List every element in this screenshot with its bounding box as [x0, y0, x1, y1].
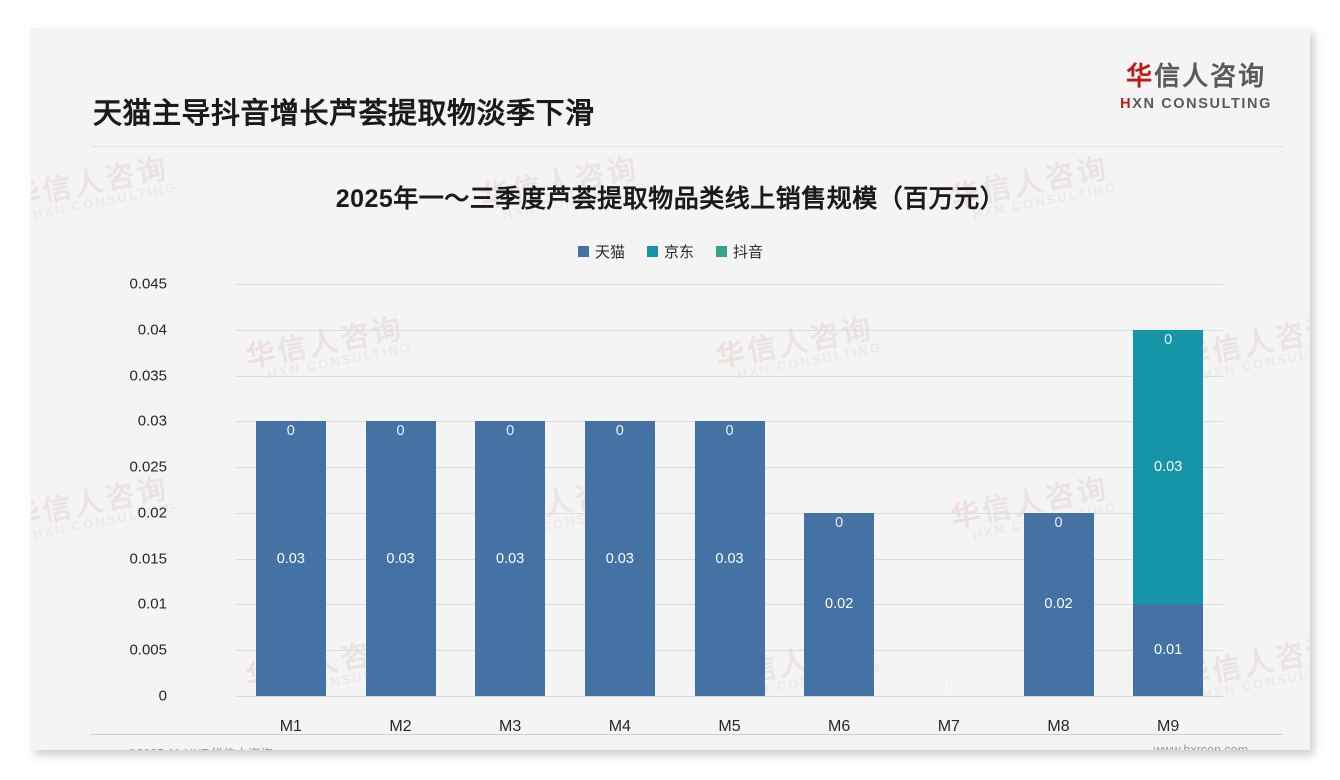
chart-legend: 天猫京东抖音	[31, 241, 1310, 262]
bar-top-zero-label: 0	[1024, 515, 1094, 531]
bar-value-label: 0.03	[256, 551, 326, 567]
legend-label: 天猫	[595, 241, 625, 262]
y-tick-label: 0.01	[138, 596, 167, 613]
bar-segment-天猫[interactable]: 0.03	[695, 421, 765, 696]
bar-segment-天猫[interactable]: 0.03	[366, 421, 436, 696]
bar-value-label: 0.01	[1133, 642, 1203, 658]
bar-value-label: 0.03	[1133, 459, 1203, 475]
company-logo: 华信人咨询 HXN CONSULTING	[1120, 56, 1272, 112]
footer-copyright: ©2025.11 HXR华信人咨询	[127, 743, 273, 750]
legend-item-1[interactable]: 天猫	[578, 241, 625, 262]
y-tick-label: 0.005	[129, 642, 167, 659]
bar-top-zero-label: 0	[585, 423, 655, 439]
y-tick-label: 0.02	[138, 504, 167, 521]
bar-value-label: 0.03	[695, 551, 765, 567]
y-tick-label: 0.03	[138, 413, 167, 430]
bar-top-zero-label: 0	[1133, 332, 1203, 348]
bars-layer: 0.0300.0300.0300.0300.0300.02000.0200.01…	[31, 268, 1310, 708]
bar-top-zero-label: 0	[475, 423, 545, 439]
logo-accent-char: 华	[1126, 61, 1154, 91]
bar-group-M4[interactable]: 0.030	[585, 421, 655, 696]
legend-label: 抖音	[733, 241, 763, 262]
bar-group-M6[interactable]: 0.020	[804, 513, 874, 696]
legend-label: 京东	[664, 241, 694, 262]
chart-title: 2025年一～三季度芦荟提取物品类线上销售规模（百万元）	[31, 179, 1310, 215]
bar-group-M8[interactable]: 0.020	[1024, 513, 1094, 696]
legend-swatch-icon	[647, 246, 658, 257]
bar-segment-京东[interactable]: 0.03	[1133, 330, 1203, 605]
logo-chinese-text: 华信人咨询	[1120, 56, 1272, 93]
logo-rest-chars: 信人咨询	[1154, 61, 1266, 91]
bar-group-M2[interactable]: 0.030	[366, 421, 436, 696]
bar-group-M3[interactable]: 0.030	[475, 421, 545, 696]
bar-group-M5[interactable]: 0.030	[695, 421, 765, 696]
y-tick-label: 0.025	[129, 459, 167, 476]
header-divider	[91, 146, 1283, 147]
bar-zero-label: 0	[914, 678, 984, 694]
slide-header: 天猫主导抖音增长芦荟提取物淡季下滑 华信人咨询 HXN CONSULTING	[31, 28, 1310, 120]
bar-top-zero-label: 0	[804, 515, 874, 531]
bar-top-zero-label: 0	[366, 423, 436, 439]
bar-segment-天猫[interactable]: 0.03	[256, 421, 326, 696]
bar-segment-天猫[interactable]: 0.03	[475, 421, 545, 696]
y-tick-label: 0.045	[129, 276, 167, 293]
bar-top-zero-label: 0	[256, 423, 326, 439]
chart-plot-area: 0.0300.0300.0300.0300.0300.02000.0200.01…	[31, 268, 1310, 708]
logo-english-text: HXN CONSULTING	[1120, 96, 1272, 112]
bar-group-M9[interactable]: 0.010.030	[1133, 330, 1203, 696]
y-tick-label: 0	[159, 688, 167, 705]
bar-segment-天猫[interactable]: 0.01	[1133, 604, 1203, 696]
logo-en-accent-char: H	[1120, 96, 1132, 112]
legend-swatch-icon	[578, 246, 589, 257]
y-tick-label: 0.035	[129, 367, 167, 384]
bar-value-label: 0.03	[475, 551, 545, 567]
y-tick-label: 0.015	[129, 550, 167, 567]
bar-value-label: 0.02	[804, 596, 874, 612]
y-tick-label: 0.04	[138, 321, 167, 338]
bar-segment-天猫[interactable]: 0.03	[585, 421, 655, 696]
footer-divider	[91, 734, 1283, 735]
legend-swatch-icon	[716, 246, 727, 257]
bar-group-M1[interactable]: 0.030	[256, 421, 326, 696]
bar-value-label: 0.02	[1024, 596, 1094, 612]
bar-segment-天猫[interactable]: 0.02	[1024, 513, 1094, 696]
legend-item-3[interactable]: 抖音	[716, 241, 763, 262]
bar-value-label: 0.03	[366, 551, 436, 567]
slide-card: 华信人咨询HXN CONSULTING华信人咨询HXN CONSULTING华信…	[31, 28, 1310, 750]
bar-segment-天猫[interactable]: 0.02	[804, 513, 874, 696]
bar-top-zero-label: 0	[695, 423, 765, 439]
footer-website: www.hxrcon.com	[1154, 743, 1248, 750]
bar-value-label: 0.03	[585, 551, 655, 567]
legend-item-2[interactable]: 京东	[647, 241, 694, 262]
logo-en-rest: XN CONSULTING	[1132, 96, 1272, 112]
page-title: 天猫主导抖音增长芦荟提取物淡季下滑	[93, 90, 595, 132]
